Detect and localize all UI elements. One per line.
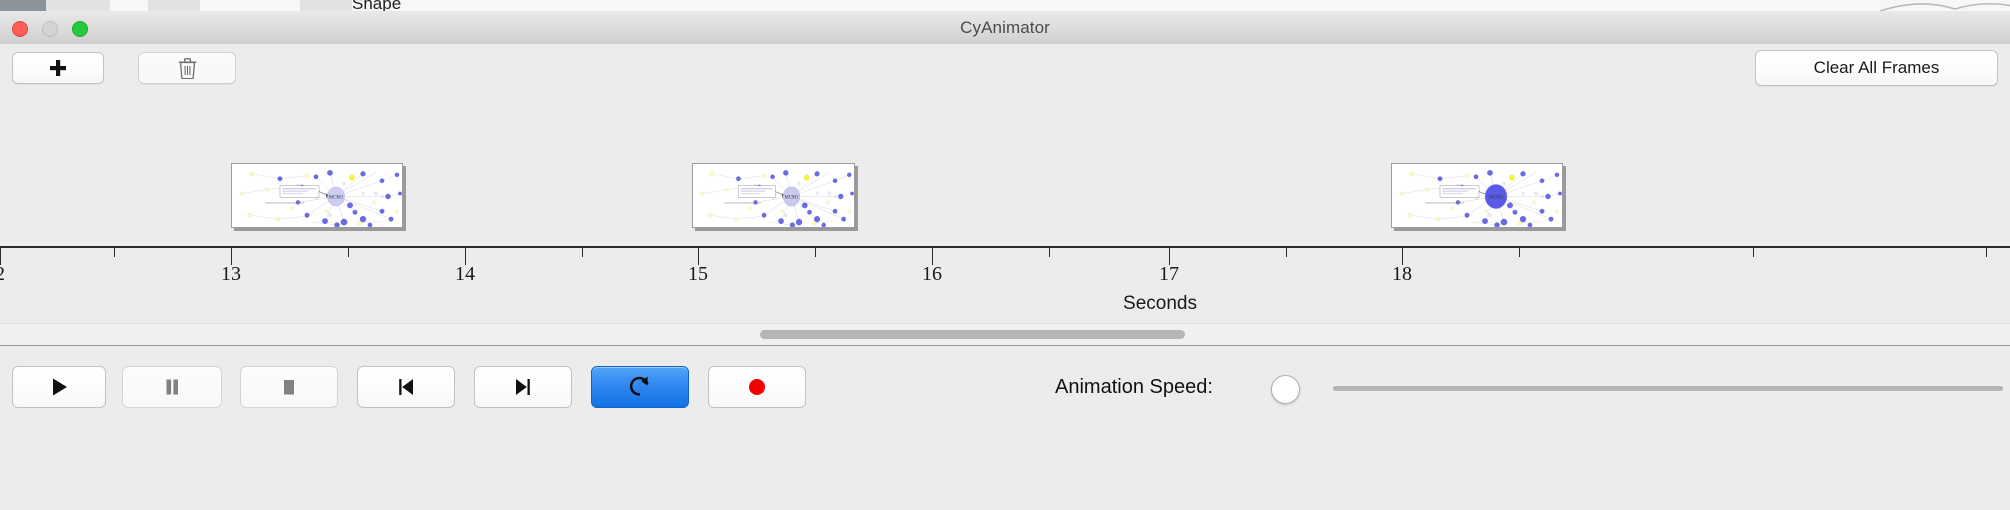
axis-tick-minor: [114, 248, 115, 257]
timeline-panel[interactable]: MCM1 MCM1 MCM1 2131415161718 Seconds: [0, 91, 2010, 323]
skip-start-icon: [395, 376, 417, 398]
axis-tick-label: 15: [688, 263, 708, 286]
background-windows-strip: Shape: [0, 0, 2010, 11]
skip-start-button[interactable]: [357, 366, 455, 408]
keyframe-thumbnail[interactable]: MCM1: [231, 163, 403, 228]
svg-text:MCM1: MCM1: [329, 195, 344, 200]
bg-decorative-curve-icon: [1880, 0, 2010, 11]
record-icon: [746, 376, 768, 398]
svg-text:MCM1: MCM1: [1489, 195, 1504, 200]
window-title: CyAnimator: [0, 11, 2010, 44]
animation-speed-label: Animation Speed:: [1055, 376, 1213, 399]
background-shape-label: Shape: [352, 0, 401, 11]
skip-end-icon: [512, 376, 534, 398]
skip-end-button[interactable]: [474, 366, 572, 408]
axis-tick-label: 14: [455, 263, 475, 286]
bg-fragment: [300, 0, 353, 11]
bg-fragment: [200, 0, 301, 11]
titlebar: CyAnimator: [0, 11, 2010, 45]
axis-tick-label: 13: [221, 263, 241, 286]
playback-controls-bar: Animation Speed:: [0, 345, 2010, 510]
axis-tick-minor: [582, 248, 583, 257]
play-button[interactable]: [12, 366, 106, 408]
axis-tick-minor: [1986, 248, 1987, 257]
clear-all-frames-button[interactable]: Clear All Frames: [1755, 50, 1998, 86]
delete-frame-button[interactable]: [138, 52, 236, 84]
axis-tick-label: 18: [1392, 263, 1412, 286]
animation-speed-slider-track[interactable]: [1333, 386, 2003, 391]
bg-fragment: [0, 0, 47, 11]
loop-icon: [627, 374, 653, 400]
record-button[interactable]: [708, 366, 806, 408]
axis-tick-minor: [1753, 248, 1754, 257]
loop-button[interactable]: [591, 366, 689, 408]
play-icon: [48, 376, 70, 398]
axis-tick-minor: [1286, 248, 1287, 257]
axis-tick-label: 16: [922, 263, 942, 286]
bg-fragment: [352, 0, 2010, 11]
animation-speed-slider-thumb[interactable]: [1271, 375, 1300, 404]
stop-button: [240, 366, 338, 408]
add-frame-button[interactable]: [12, 52, 104, 84]
axis-tick-minor: [815, 248, 816, 257]
network-thumbnail-graphic: MCM1: [1392, 164, 1562, 227]
keyframes-strip[interactable]: MCM1 MCM1 MCM1: [0, 91, 2010, 251]
timeline-scrollbar-thumb[interactable]: [760, 330, 1185, 339]
pause-icon: [161, 376, 183, 398]
keyframe-thumbnail[interactable]: MCM1: [692, 163, 855, 228]
axis-tick-label: 2: [0, 263, 5, 286]
frames-toolbar: Clear All Frames: [0, 44, 2010, 92]
timeline-scrollbar[interactable]: [0, 323, 2010, 346]
timeline-axis-title: Seconds: [0, 293, 2010, 315]
stop-icon: [278, 376, 300, 398]
axis-tick-minor: [1049, 248, 1050, 257]
axis-tick-minor: [348, 248, 349, 257]
plus-icon: [48, 58, 68, 78]
network-thumbnail-graphic: MCM1: [232, 164, 402, 227]
keyframe-thumbnail[interactable]: MCM1: [1391, 163, 1563, 228]
timeline-axis: [0, 246, 2010, 248]
bg-fragment: [46, 0, 111, 11]
bg-fragment: [110, 0, 149, 11]
svg-text:MCM1: MCM1: [785, 195, 799, 200]
bg-fragment: [148, 0, 201, 11]
network-thumbnail-graphic: MCM1: [693, 164, 854, 227]
trash-icon: [178, 57, 197, 79]
pause-button: [122, 366, 222, 408]
cyanimator-window: Shape CyAnimator Clear All Fram: [0, 0, 2010, 510]
axis-tick-label: 17: [1159, 263, 1179, 286]
clear-all-frames-label: Clear All Frames: [1814, 58, 1940, 78]
axis-tick-minor: [1519, 248, 1520, 257]
